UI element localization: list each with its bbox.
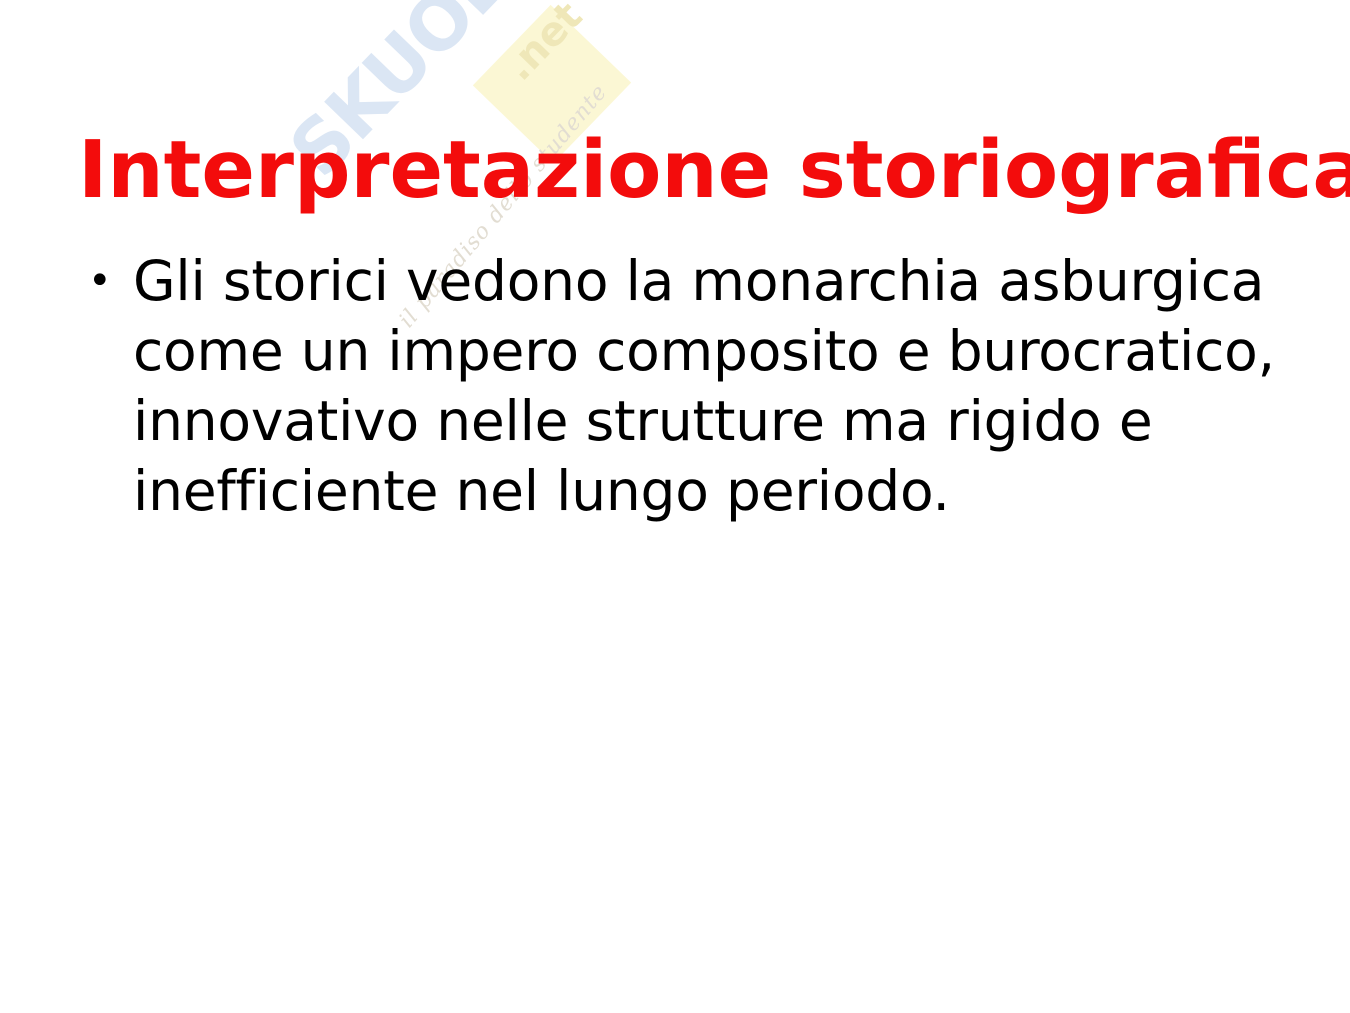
list-item: • Gli storici vedono la monarchia asburg… [78,246,1293,526]
list-item-text: Gli storici vedono la monarchia asburgic… [133,246,1293,526]
bullet-icon: • [88,246,112,316]
watermark-net-text: .net [498,0,589,88]
slide: SKUOLA .net il paradiso dello studente I… [0,0,1350,1013]
slide-body: • Gli storici vedono la monarchia asburg… [78,246,1293,526]
page-title: Interpretazione storiografica [78,131,1278,210]
